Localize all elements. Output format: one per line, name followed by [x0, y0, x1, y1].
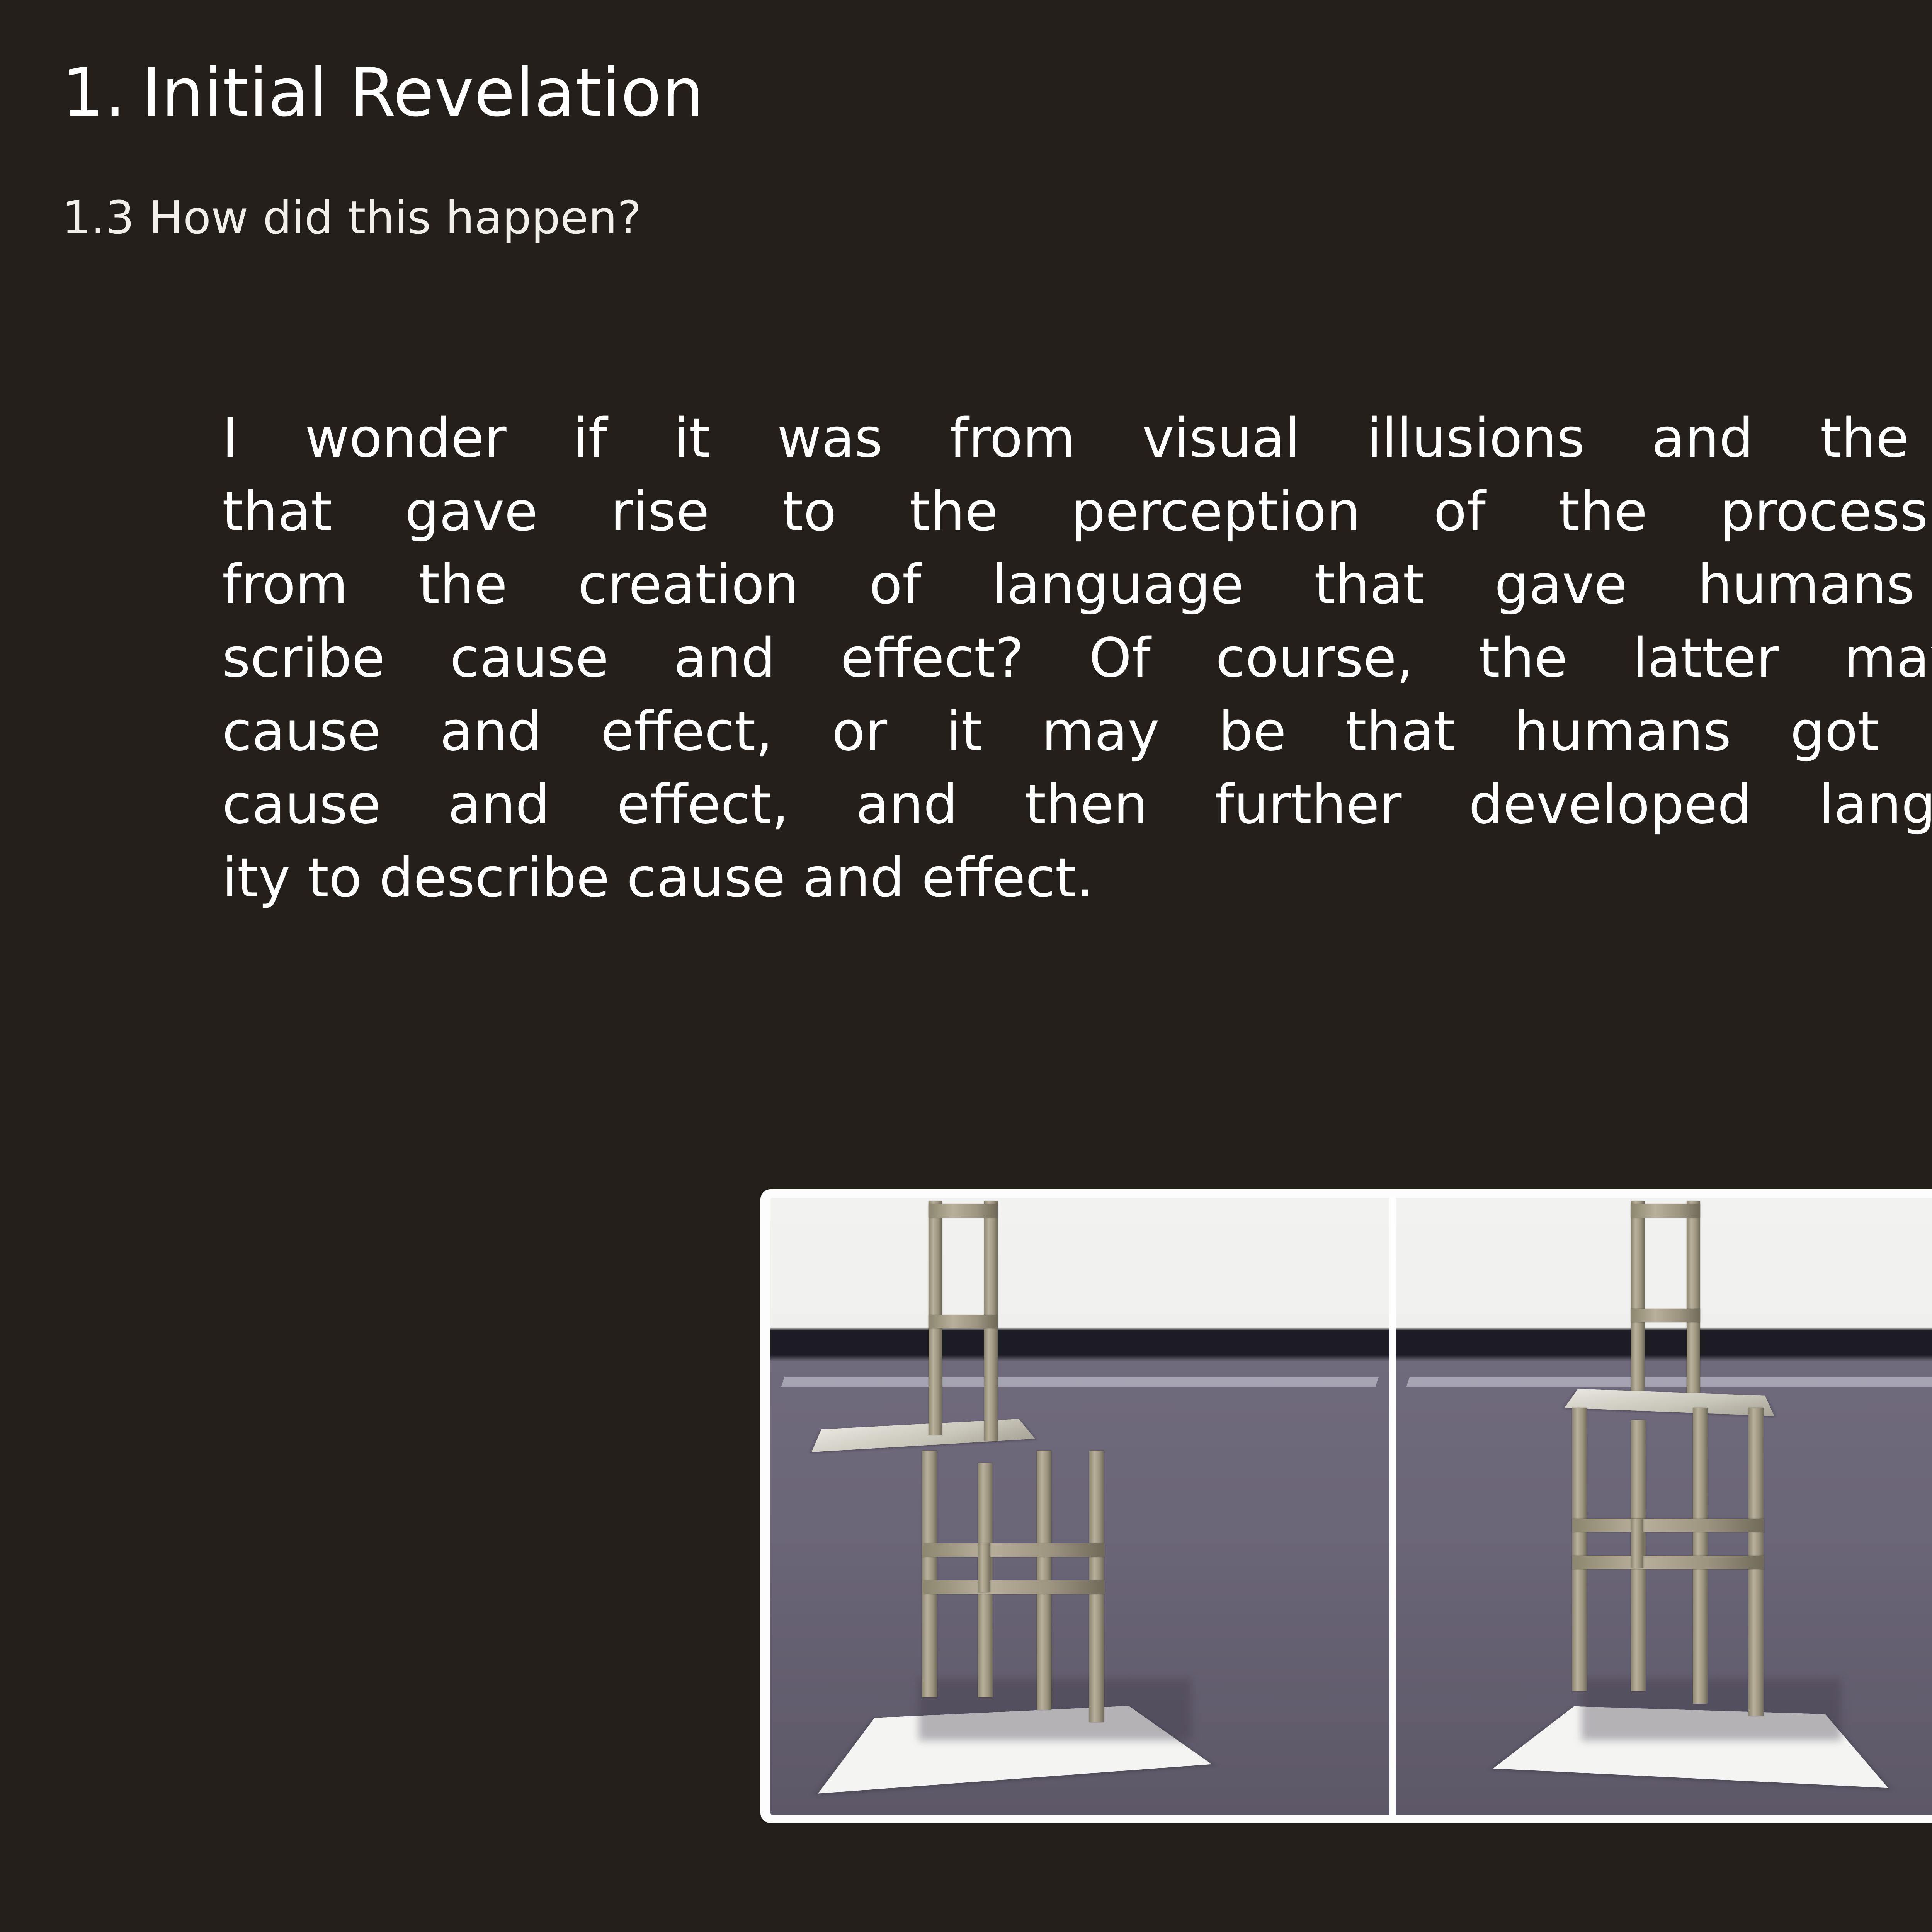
backrest-post-left [1631, 1201, 1645, 1398]
seat-plate [1564, 1389, 1774, 1416]
body-line: thatgaverisetotheperceptionoftheprocesso… [222, 475, 1932, 549]
body-line: scribecauseandeffect?Ofcourse,thelatterm… [222, 622, 1932, 695]
photo-pane-left [770, 1198, 1389, 1815]
figure-container [760, 1189, 1932, 1823]
section-number: 1. [62, 54, 126, 131]
leg-cross-brace [978, 1543, 990, 1593]
body-line: ity to describe cause and effect. [222, 842, 1932, 915]
leg-rail-upper [1572, 1519, 1764, 1532]
page-title: 1.Initial Revelation [62, 58, 704, 128]
backrest-post-right [1687, 1201, 1700, 1405]
body-line: Iwonderifitwasfromvisualillusionsandthep… [222, 402, 1932, 475]
photo-pane-divider [1390, 1198, 1395, 1815]
body-line: causeandeffect,andthenfurtherdevelopedla… [222, 768, 1932, 842]
backrest-mid-rail [1631, 1309, 1700, 1322]
backrest-top-rail [1631, 1204, 1700, 1218]
ambiguous-chair-illusion-photo [770, 1198, 1932, 1815]
body-paragraph: Iwonderifitwasfromvisualillusionsandthep… [222, 402, 1932, 915]
leg-rail-upper [922, 1543, 1105, 1557]
leg-back-left [922, 1451, 937, 1697]
body-line: fromthecreationoflanguagethatgavehumanst… [222, 548, 1932, 622]
leg-back-left [1572, 1408, 1587, 1691]
backrest-top-rail [929, 1204, 998, 1218]
photo-pane-right [1396, 1198, 1932, 1815]
leg-rail-lower [922, 1580, 1105, 1594]
floor-highlight [781, 1377, 1379, 1387]
backrest-mid-rail [929, 1315, 998, 1328]
floating-seat-plate [812, 1419, 1035, 1452]
leg-rail-lower [1572, 1556, 1764, 1569]
chair-shadow [1582, 1679, 1842, 1741]
chair-shadow [919, 1679, 1191, 1741]
leg-cross-brace [1631, 1519, 1643, 1568]
body-line: causeandeffect,oritmaybethathumansgotthe… [222, 695, 1932, 769]
section-title: Initial Revelation [141, 54, 704, 131]
subsection-title: 1.3 How did this happen? [62, 194, 641, 242]
floor-highlight [1406, 1377, 1932, 1387]
